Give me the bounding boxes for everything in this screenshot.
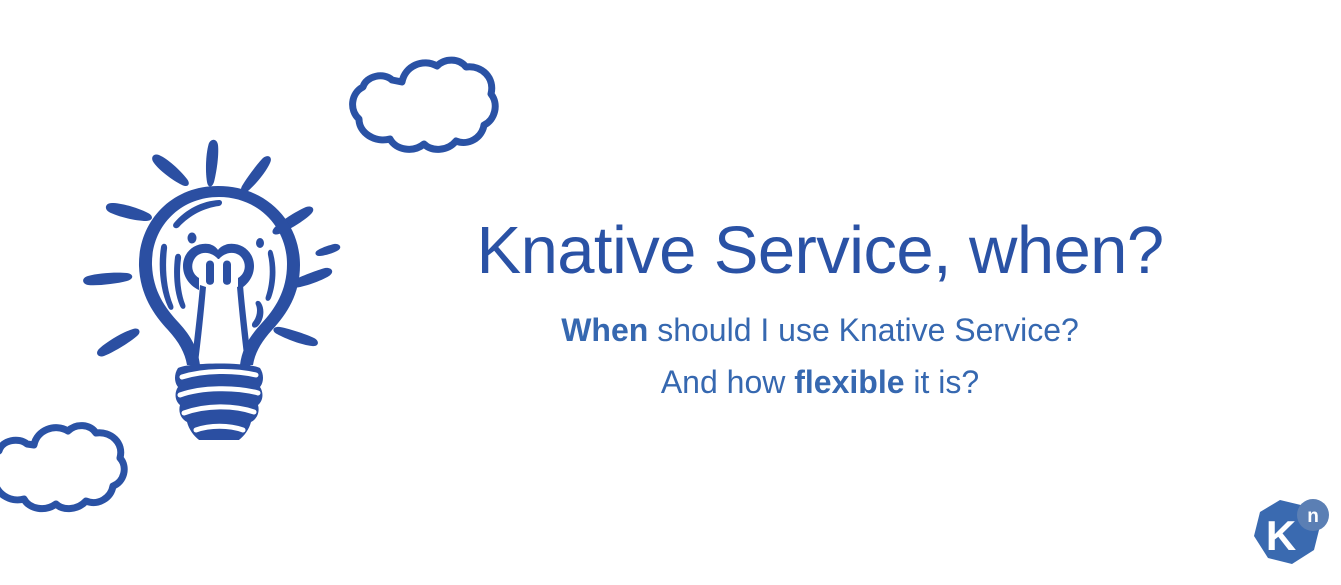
subtitle-line-2-lead: And how [661, 364, 794, 400]
knative-logo: K n [1248, 498, 1332, 572]
text-block: Knative Service, when? When should I use… [420, 215, 1220, 409]
subtitle-line-2-strong: flexible [794, 364, 904, 400]
lightbulb-icon [78, 125, 358, 440]
subtitle-line-1-rest: should I use Knative Service? [648, 312, 1078, 348]
slide-canvas: Knative Service, when? When should I use… [0, 0, 1341, 585]
cloud-icon [345, 52, 500, 164]
subtitle-line-1: When should I use Knative Service? [420, 305, 1220, 357]
subtitle-line-2-rest: it is? [905, 364, 980, 400]
page-title: Knative Service, when? [420, 215, 1220, 287]
cloud-icon [0, 418, 144, 518]
knative-letter-k: K [1266, 512, 1296, 559]
subtitle-line-1-strong: When [561, 312, 648, 348]
subtitle-line-2: And how flexible it is? [420, 357, 1220, 409]
subtitle-block: When should I use Knative Service? And h… [420, 305, 1220, 409]
knative-badge-letter-n: n [1307, 506, 1319, 527]
